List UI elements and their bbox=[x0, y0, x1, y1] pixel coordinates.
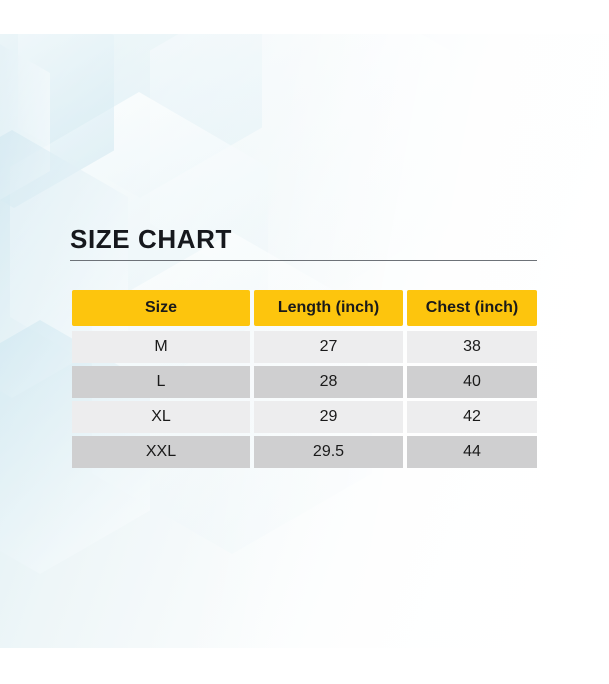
table-row: XXL 29.5 44 bbox=[72, 436, 537, 468]
table-row: XL 29 42 bbox=[72, 401, 537, 433]
cell-size: M bbox=[72, 331, 250, 363]
column-header-chest: Chest (inch) bbox=[407, 290, 537, 326]
cell-chest: 44 bbox=[407, 436, 537, 468]
cell-chest: 38 bbox=[407, 331, 537, 363]
table-row: M 27 38 bbox=[72, 331, 537, 363]
column-header-size: Size bbox=[72, 290, 250, 326]
cell-length: 29 bbox=[254, 401, 403, 433]
cell-length: 29.5 bbox=[254, 436, 403, 468]
cell-chest: 42 bbox=[407, 401, 537, 433]
title-divider bbox=[70, 260, 537, 261]
cell-size: XXL bbox=[72, 436, 250, 468]
cell-length: 27 bbox=[254, 331, 403, 363]
table-header-row: Size Length (inch) Chest (inch) bbox=[72, 290, 537, 326]
cell-length: 28 bbox=[254, 366, 403, 398]
cell-size: XL bbox=[72, 401, 250, 433]
table-row: L 28 40 bbox=[72, 366, 537, 398]
size-chart-table: Size Length (inch) Chest (inch) M 27 38 … bbox=[72, 290, 537, 468]
page-title: SIZE CHART bbox=[70, 226, 232, 252]
column-header-length: Length (inch) bbox=[254, 290, 403, 326]
cell-chest: 40 bbox=[407, 366, 537, 398]
cell-size: L bbox=[72, 366, 250, 398]
